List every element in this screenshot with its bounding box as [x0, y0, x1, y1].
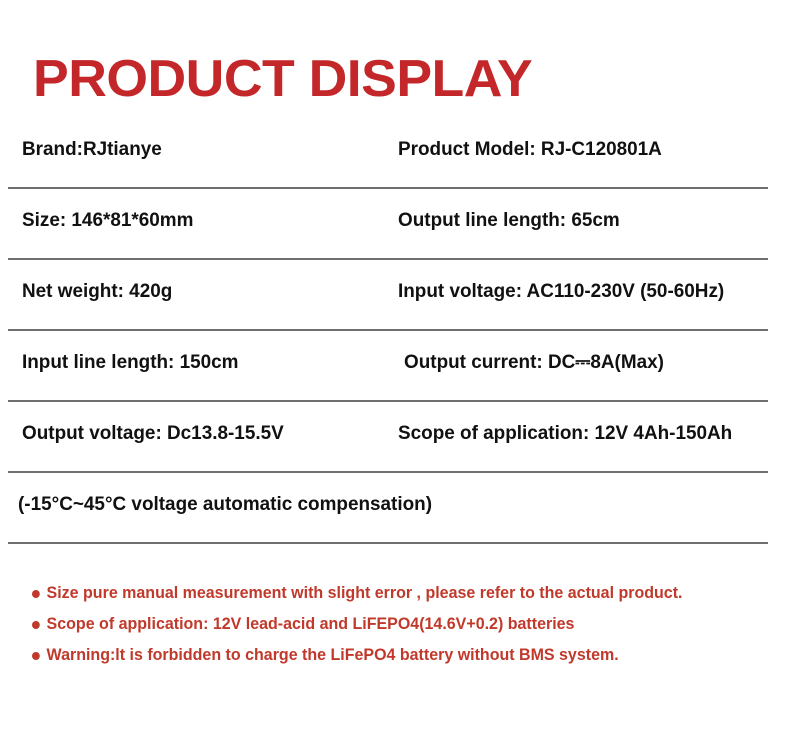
bullet-icon	[32, 652, 40, 660]
note-item: Scope of application: 12V lead-acid and …	[0, 609, 766, 640]
spec-row: Net weight: 420g Input voltage: AC110-23…	[0, 260, 790, 331]
notes-list: Size pure manual measurement with slight…	[0, 578, 790, 671]
spec-product-model: Product Model: RJ-C120801A	[398, 136, 662, 162]
specification-table: Brand:RJtianye Product Model: RJ-C120801…	[0, 118, 790, 544]
spec-row: Input line length: 150cm Output current:…	[0, 331, 790, 402]
product-display-page: PRODUCT DISPLAY Brand:RJtianye Product M…	[0, 0, 790, 747]
spec-net-weight: Net weight: 420g	[22, 278, 172, 304]
spec-row: Size: 146*81*60mm Output line length: 65…	[0, 189, 790, 260]
spec-size: Size: 146*81*60mm	[22, 207, 193, 233]
spec-row: (-15°C~45°C voltage automatic compensati…	[0, 473, 790, 544]
spec-row: Brand:RJtianye Product Model: RJ-C120801…	[0, 118, 790, 189]
note-text: Scope of application: 12V lead-acid and …	[47, 615, 575, 633]
bullet-icon	[32, 621, 40, 629]
note-item: Warning:lt is forbidden to charge the Li…	[0, 640, 766, 671]
spec-output-voltage: Output voltage: Dc13.8-15.5V	[22, 420, 284, 446]
spec-scope-of-application: Scope of application: 12V 4Ah-150Ah	[398, 420, 732, 446]
note-item: Size pure manual measurement with slight…	[0, 578, 766, 609]
spec-row: Output voltage: Dc13.8-15.5V Scope of ap…	[0, 402, 790, 473]
row-divider	[8, 542, 768, 544]
spec-input-voltage: Input voltage: AC110-230V (50-60Hz)	[398, 278, 724, 304]
bullet-icon	[32, 590, 40, 598]
spec-input-line-length: Input line length: 150cm	[22, 349, 239, 375]
spec-output-current: Output current: DC⎓8A(Max)	[404, 349, 664, 375]
note-text: Warning:lt is forbidden to charge the Li…	[47, 646, 619, 664]
spec-temperature-compensation: (-15°C~45°C voltage automatic compensati…	[18, 491, 432, 517]
spec-brand: Brand:RJtianye	[22, 136, 162, 162]
note-text: Size pure manual measurement with slight…	[47, 584, 683, 602]
spec-output-line-length: Output line length: 65cm	[398, 207, 620, 233]
page-title: PRODUCT DISPLAY	[33, 51, 532, 107]
